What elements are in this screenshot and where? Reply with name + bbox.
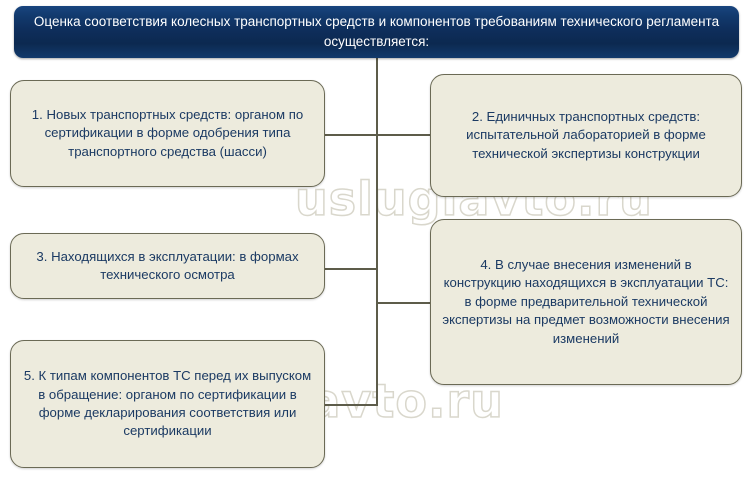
connector-horizontal-node3 [325, 268, 378, 270]
diagram-node-2-text: 2. Единичных транспортных средств: испыт… [441, 108, 731, 163]
diagram-node-5-text: 5. К типам компонентов ТС перед их выпус… [21, 367, 314, 441]
connector-horizontal-node4 [376, 302, 431, 304]
diagram-node-3-text: 3. Находящихся в эксплуатации: в формах … [21, 248, 314, 285]
diagram-node-4: 4. В случае внесения изменений в констру… [430, 219, 742, 385]
diagram-node-3: 3. Находящихся в эксплуатации: в формах … [10, 233, 325, 299]
diagram-node-4-text: 4. В случае внесения изменений в констру… [441, 256, 731, 348]
diagram-node-1-text: 1. Новых транспортных средств: органом п… [21, 106, 314, 161]
connector-horizontal-node1-node2 [325, 134, 431, 136]
diagram-node-5: 5. К типам компонентов ТС перед их выпус… [10, 340, 325, 468]
diagram-title-banner: Оценка соответствия колесных транспортны… [14, 6, 739, 58]
diagram-canvas: uslugiavto.ru uslugiavto.ru Оценка соотв… [0, 0, 753, 479]
diagram-node-1: 1. Новых транспортных средств: органом п… [10, 80, 325, 187]
diagram-node-2: 2. Единичных транспортных средств: испыт… [430, 74, 742, 197]
diagram-title-text: Оценка соответствия колесных транспортны… [14, 12, 739, 51]
connector-vertical-spine [376, 57, 378, 406]
connector-horizontal-node5 [325, 404, 378, 406]
